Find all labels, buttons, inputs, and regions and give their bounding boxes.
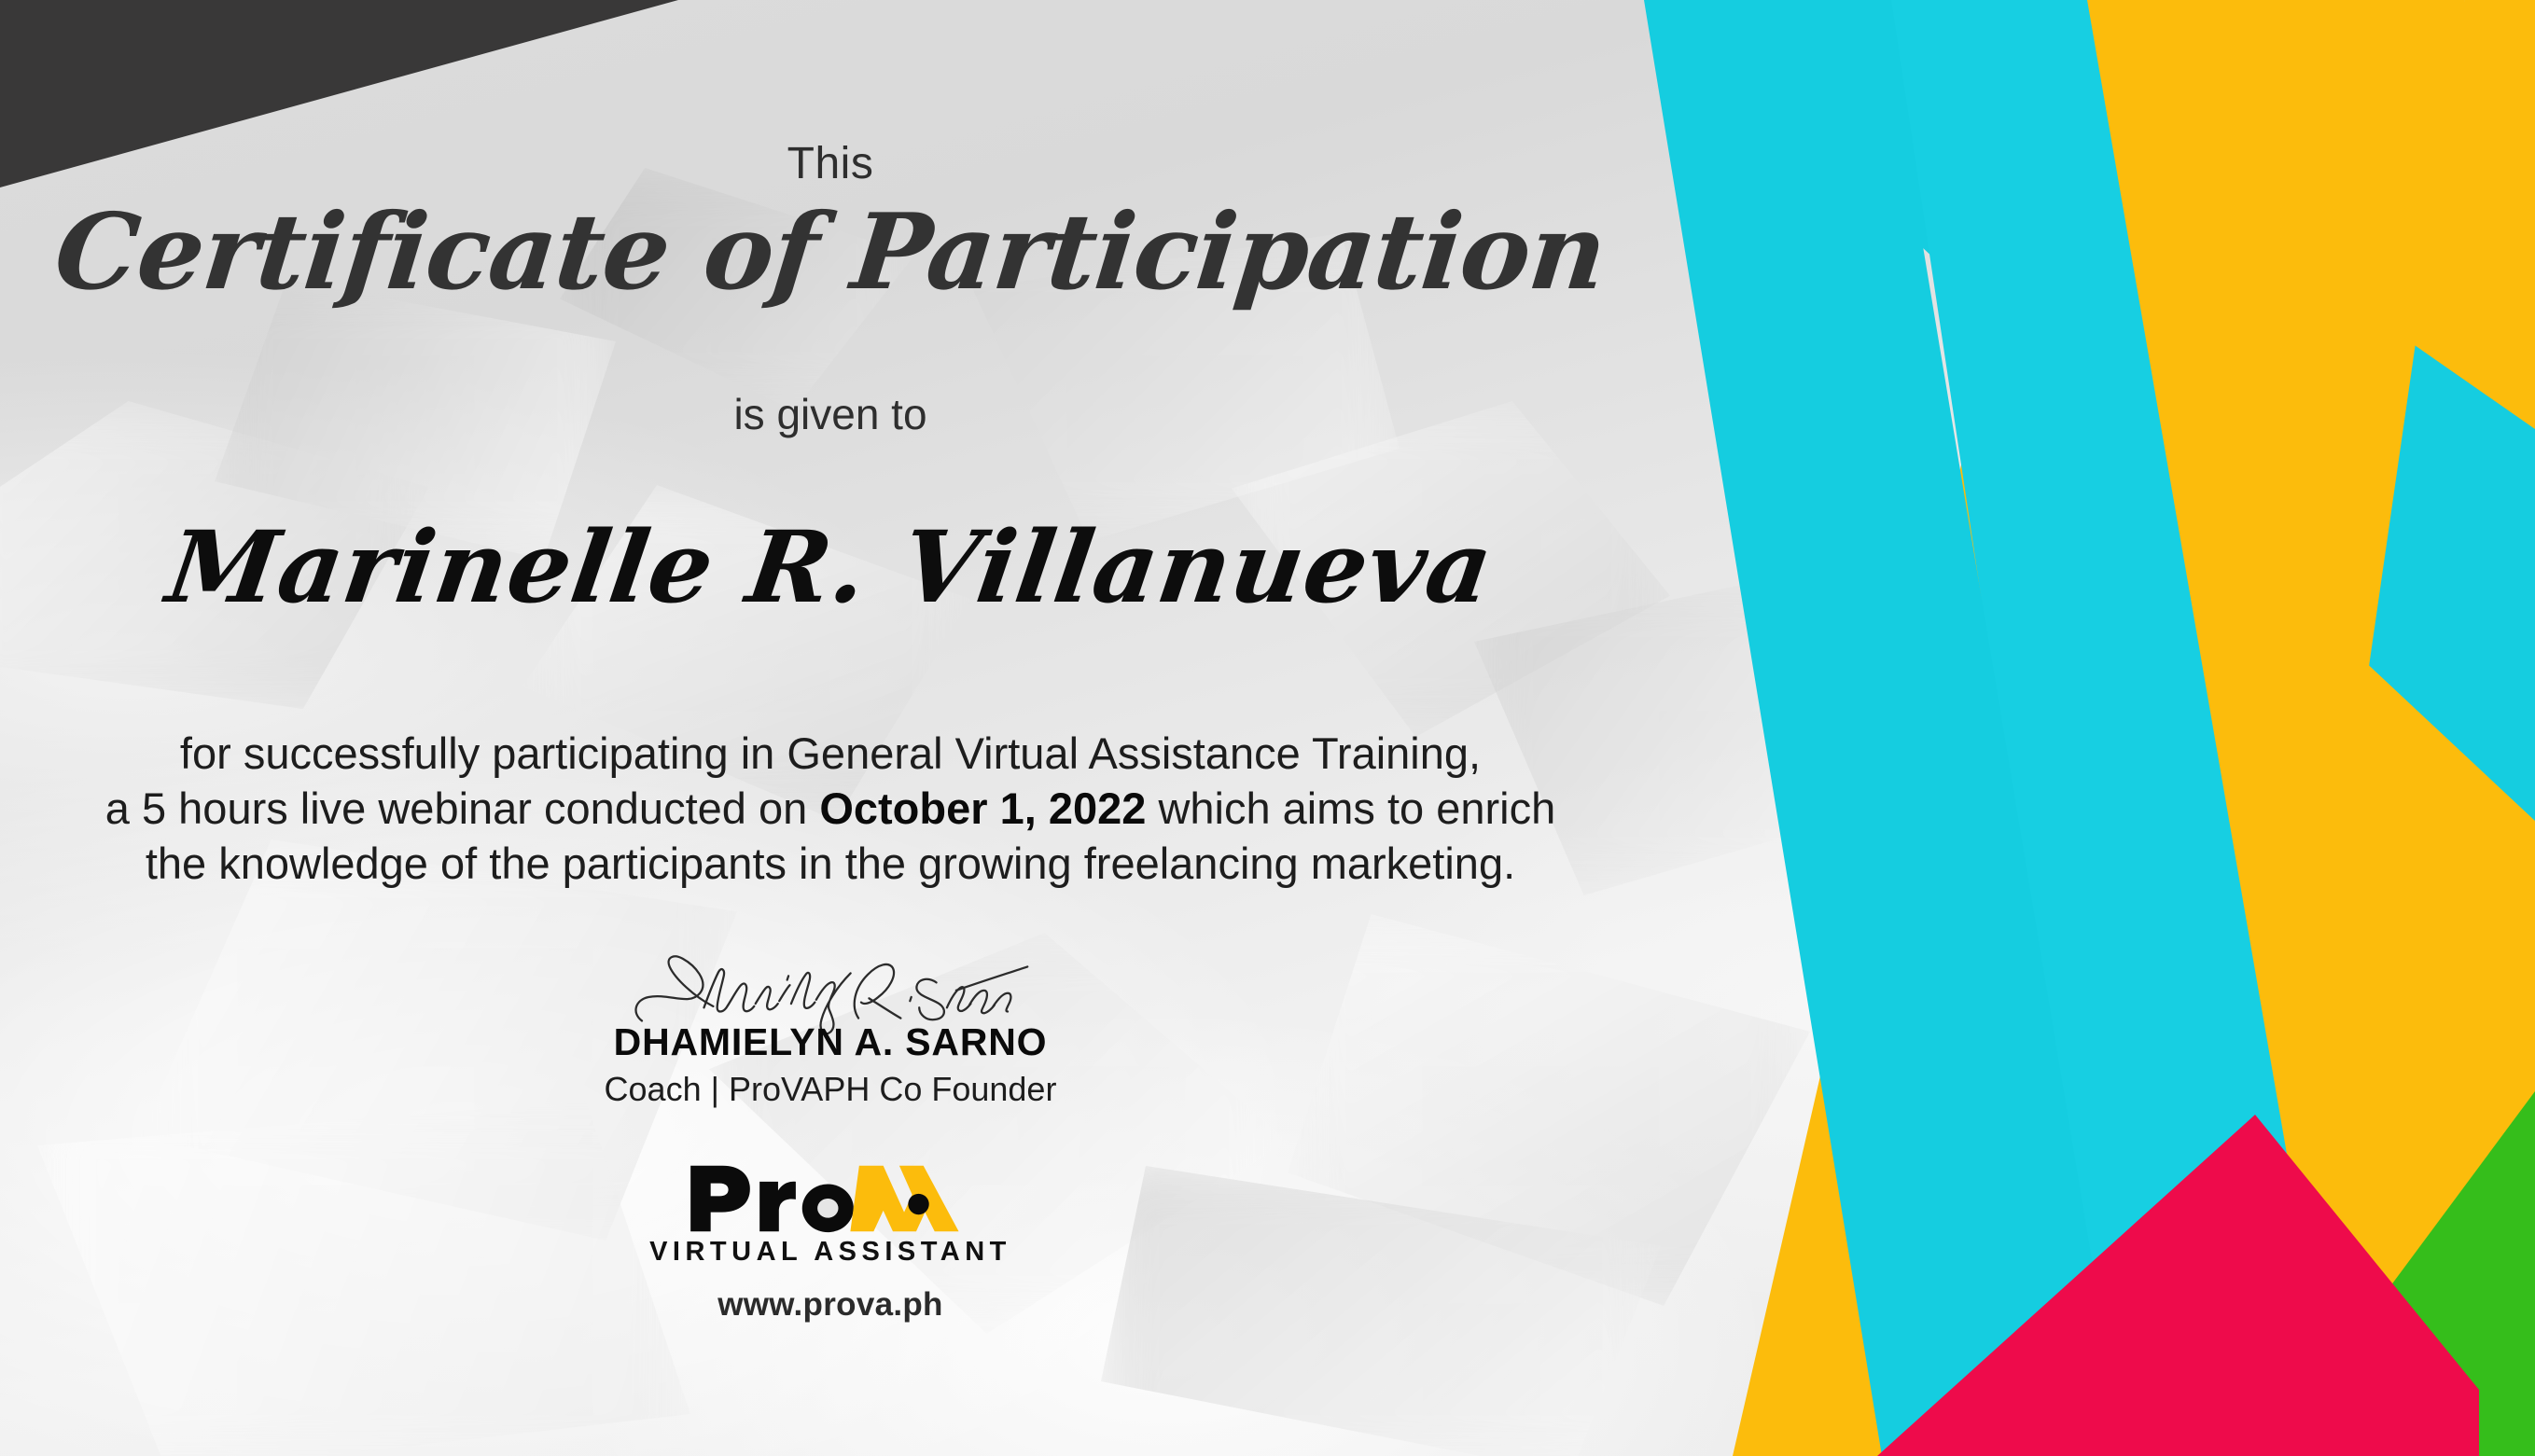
citation-line-2-after: which aims to enrich — [1146, 783, 1555, 833]
intro-label: This — [0, 138, 1661, 189]
signer-role: Coach | ProVAPH Co Founder — [0, 1070, 1661, 1109]
citation-line-2: a 5 hours live webinar conducted on Octo… — [37, 781, 1623, 836]
page-title: Certificate of Participation — [0, 191, 1667, 313]
citation-line-1: for successfully participating in Genera… — [37, 726, 1623, 781]
brand-logo-block: VIRTUAL ASSISTANT www.prova.ph — [0, 1164, 1661, 1324]
logo-dot-icon — [908, 1194, 928, 1214]
signature-block: DHAMIELYN A. SARNO Coach | ProVAPH Co Fo… — [0, 950, 1661, 1109]
website-url: www.prova.ph — [0, 1286, 1661, 1324]
certificate-canvas: This Certificate of Participation is giv… — [0, 0, 2535, 1456]
citation-line-3: the knowledge of the participants in the… — [37, 836, 1623, 891]
citation-line-2-before: a 5 hours live webinar conducted on — [105, 783, 820, 833]
prova-logo-icon — [686, 1164, 975, 1233]
logo-tagline: VIRTUAL ASSISTANT — [0, 1237, 1661, 1268]
citation-body: for successfully participating in Genera… — [37, 726, 1623, 892]
signer-name: DHAMIELYN A. SARNO — [0, 1020, 1661, 1064]
event-date: October 1, 2022 — [819, 783, 1146, 833]
certificate-content: This Certificate of Participation is giv… — [0, 0, 1661, 1456]
recipient-name: Marinelle R. Villanueva — [0, 508, 1669, 625]
given-to-label: is given to — [0, 389, 1661, 439]
decorative-ribbons — [1602, 0, 2535, 1456]
